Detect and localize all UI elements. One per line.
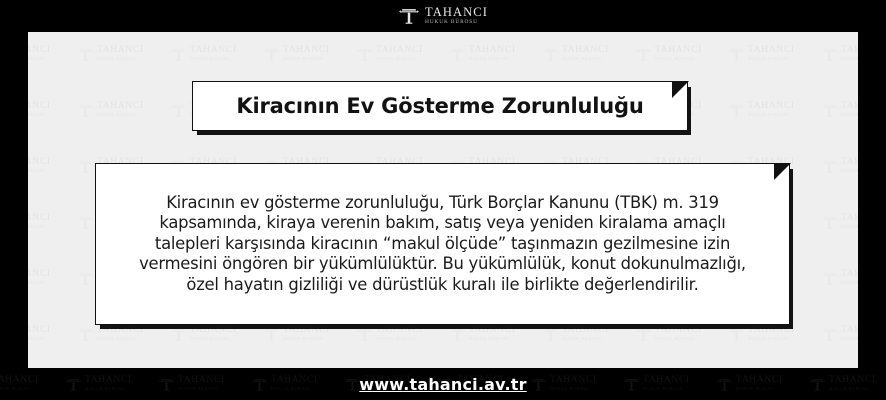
watermark-subtitle: HUKUK BÜROSU (28, 56, 51, 62)
law-column-icon (728, 326, 745, 343)
watermark-name: TAHANCI (748, 326, 795, 336)
watermark-subtitle: HUKUK BÜROSU (841, 168, 858, 174)
law-column-icon (542, 326, 559, 343)
watermark-name: TAHANCI (376, 46, 423, 56)
law-column-icon (170, 102, 187, 119)
watermark-subtitle: HUKUK BÜROSU (97, 56, 144, 62)
watermark-wordmark: TAHANCIHUKUK BÜROSU (829, 376, 876, 392)
watermark-tile: TAHANCIHUKUK BÜROSU (156, 368, 249, 400)
watermark-name: TAHANCI (28, 270, 51, 280)
law-column-icon (623, 376, 640, 393)
watermark-wordmark: TAHANCIHUKUK BÜROSU (841, 102, 858, 118)
law-column-icon (398, 5, 420, 27)
watermark-wordmark: TAHANCIHUKUK BÜROSU (841, 326, 858, 342)
watermark-tile: TAHANCIHUKUK BÜROSU (528, 368, 621, 400)
page-title: Kiracının Ev Gösterme Zorunluluğu (214, 94, 665, 118)
watermark-subtitle: HUKUK BÜROSU (841, 56, 858, 62)
watermark-tile: TAHANCIHUKUK BÜROSU (75, 32, 168, 82)
watermark-name: TAHANCI (97, 326, 144, 336)
law-column-icon (635, 46, 652, 63)
law-column-icon (65, 376, 82, 393)
law-column-icon (716, 376, 733, 393)
watermark-tile: TAHANCIHUKUK BÜROSU (63, 368, 156, 400)
watermark-wordmark: TAHANCIHUKUK BÜROSU (376, 326, 423, 342)
watermark-wordmark: TAHANCIHUKUK BÜROSU (841, 46, 858, 62)
watermark-name: TAHANCI (0, 376, 39, 386)
watermark-tile: TAHANCIHUKUK BÜROSU (633, 32, 726, 82)
watermark-name: TAHANCI (28, 158, 51, 168)
watermark-wordmark: TAHANCIHUKUK BÜROSU (736, 376, 783, 392)
law-column-icon (170, 326, 187, 343)
watermark-name: TAHANCI (190, 326, 237, 336)
law-column-icon (263, 326, 280, 343)
watermark-subtitle: HUKUK BÜROSU (469, 56, 516, 62)
watermark-tile: TAHANCIHUKUK BÜROSU (819, 32, 858, 82)
watermark-subtitle: HUKUK BÜROSU (28, 336, 51, 342)
watermark-wordmark: TAHANCIHUKUK BÜROSU (643, 376, 690, 392)
watermark-wordmark: TAHANCIHUKUK BÜROSU (28, 326, 51, 342)
watermark-subtitle: HUKUK BÜROSU (748, 112, 795, 118)
law-column-icon (821, 102, 838, 119)
watermark-tile: TAHANCIHUKUK BÜROSU (249, 368, 342, 400)
law-column-icon (728, 46, 745, 63)
watermark-wordmark: TAHANCIHUKUK BÜROSU (97, 46, 144, 62)
watermark-subtitle: HUKUK BÜROSU (655, 336, 702, 342)
watermark-wordmark: TAHANCIHUKUK BÜROSU (748, 326, 795, 342)
law-column-icon (356, 46, 373, 63)
watermark-wordmark: TAHANCIHUKUK BÜROSU (97, 102, 144, 118)
brand-wordmark: TAHANCI HUKUK BÜROSU (425, 6, 488, 26)
brand-name: TAHANCI (425, 6, 488, 19)
watermark-tile: TAHANCIHUKUK BÜROSU (168, 32, 261, 82)
watermark-tile: TAHANCIHUKUK BÜROSU (726, 32, 819, 82)
watermark-name: TAHANCI (283, 326, 330, 336)
law-column-icon (77, 46, 94, 63)
watermark-subtitle: HUKUK BÜROSU (178, 386, 225, 392)
watermark-name: TAHANCI (841, 46, 858, 56)
watermark-subtitle: HUKUK BÜROSU (28, 168, 51, 174)
watermark-tile: TAHANCIHUKUK BÜROSU (540, 32, 633, 82)
watermark-subtitle: HUKUK BÜROSU (97, 112, 144, 118)
watermark-name: TAHANCI (550, 376, 597, 386)
watermark-name: TAHANCI (841, 102, 858, 112)
folded-corner-icon (774, 163, 791, 180)
law-column-icon (542, 46, 559, 63)
watermark-name: TAHANCI (841, 270, 858, 280)
watermark-tile: TAHANCIHUKUK BÜROSU (28, 82, 75, 138)
watermark-tile: TAHANCIHUKUK BÜROSU (621, 368, 714, 400)
watermark-tile: TAHANCIHUKUK BÜROSU (819, 250, 858, 306)
law-column-icon (77, 158, 94, 175)
watermark-tile: TAHANCIHUKUK BÜROSU (726, 82, 819, 138)
watermark-subtitle: HUKUK BÜROSU (550, 386, 597, 392)
watermark-name: TAHANCI (28, 46, 51, 56)
law-column-icon (821, 326, 838, 343)
watermark-wordmark: TAHANCIHUKUK BÜROSU (748, 102, 795, 118)
watermark-name: TAHANCI (829, 376, 876, 386)
website-url-link[interactable]: www.tahanci.av.tr (359, 375, 526, 394)
watermark-name: TAHANCI (271, 376, 318, 386)
watermark-name: TAHANCI (841, 158, 858, 168)
watermark-subtitle: HUKUK BÜROSU (283, 56, 330, 62)
watermark-subtitle: HUKUK BÜROSU (469, 336, 516, 342)
watermark-name: TAHANCI (841, 326, 858, 336)
watermark-tile: TAHANCIHUKUK BÜROSU (354, 32, 447, 82)
page-footer: TAHANCIHUKUK BÜROSUTAHANCIHUKUK BÜROSUTA… (0, 368, 886, 400)
watermark-tile: TAHANCIHUKUK BÜROSU (819, 306, 858, 362)
watermark-subtitle: HUKUK BÜROSU (28, 112, 51, 118)
watermark-wordmark: TAHANCIHUKUK BÜROSU (28, 102, 51, 118)
watermark-subtitle: HUKUK BÜROSU (28, 224, 51, 230)
watermark-name: TAHANCI (562, 326, 609, 336)
law-column-icon (530, 376, 547, 393)
law-column-icon (77, 326, 94, 343)
watermark-subtitle: HUKUK BÜROSU (841, 280, 858, 286)
watermark-subtitle: HUKUK BÜROSU (736, 386, 783, 392)
watermark-wordmark: TAHANCIHUKUK BÜROSU (841, 270, 858, 286)
watermark-wordmark: TAHANCIHUKUK BÜROSU (562, 326, 609, 342)
watermark-tile: TAHANCIHUKUK BÜROSU (819, 82, 858, 138)
watermark-subtitle: HUKUK BÜROSU (271, 386, 318, 392)
watermark-wordmark: TAHANCIHUKUK BÜROSU (283, 46, 330, 62)
law-column-icon (635, 326, 652, 343)
watermark-wordmark: TAHANCIHUKUK BÜROSU (28, 158, 51, 174)
watermark-wordmark: TAHANCIHUKUK BÜROSU (655, 326, 702, 342)
watermark-wordmark: TAHANCIHUKUK BÜROSU (283, 326, 330, 342)
law-column-icon (821, 270, 838, 287)
watermark-tile: TAHANCIHUKUK BÜROSU (807, 368, 886, 400)
law-column-icon (251, 376, 268, 393)
watermark-wordmark: TAHANCIHUKUK BÜROSU (841, 214, 858, 230)
watermark-name: TAHANCI (28, 214, 51, 224)
watermark-tile: TAHANCIHUKUK BÜROSU (28, 250, 75, 306)
watermark-subtitle: HUKUK BÜROSU (190, 56, 237, 62)
law-column-icon (728, 102, 745, 119)
watermark-subtitle: HUKUK BÜROSU (841, 224, 858, 230)
watermark-wordmark: TAHANCIHUKUK BÜROSU (469, 46, 516, 62)
watermark-tile: TAHANCIHUKUK BÜROSU (28, 306, 75, 362)
law-column-icon (821, 46, 838, 63)
watermark-tile: TAHANCIHUKUK BÜROSU (819, 194, 858, 250)
law-column-icon (449, 46, 466, 63)
watermark-wordmark: TAHANCIHUKUK BÜROSU (376, 46, 423, 62)
watermark-wordmark: TAHANCIHUKUK BÜROSU (841, 158, 858, 174)
watermark-wordmark: TAHANCIHUKUK BÜROSU (85, 376, 132, 392)
watermark-subtitle: HUKUK BÜROSU (283, 336, 330, 342)
watermark-wordmark: TAHANCIHUKUK BÜROSU (550, 376, 597, 392)
watermark-wordmark: TAHANCIHUKUK BÜROSU (748, 46, 795, 62)
watermark-subtitle: HUKUK BÜROSU (190, 336, 237, 342)
watermark-name: TAHANCI (97, 46, 144, 56)
law-column-icon (77, 214, 94, 231)
content-panel: TAHANCIHUKUK BÜROSUTAHANCIHUKUK BÜROSUTA… (28, 32, 858, 368)
watermark-name: TAHANCI (85, 376, 132, 386)
brand-logo: TAHANCI HUKUK BÜROSU (398, 5, 488, 27)
watermark-subtitle: HUKUK BÜROSU (85, 386, 132, 392)
watermark-name: TAHANCI (736, 376, 783, 386)
law-column-icon (809, 376, 826, 393)
watermark-tile: TAHANCIHUKUK BÜROSU (28, 32, 75, 82)
watermark-subtitle: HUKUK BÜROSU (829, 386, 876, 392)
law-column-icon (449, 326, 466, 343)
watermark-tile: TAHANCIHUKUK BÜROSU (714, 368, 807, 400)
body-paragraph: Kiracının ev gösterme zorunluluğu, Türk … (96, 193, 789, 296)
body-card: Kiracının ev gösterme zorunluluğu, Türk … (95, 163, 790, 325)
folded-corner-icon (672, 81, 689, 98)
watermark-subtitle: HUKUK BÜROSU (841, 336, 858, 342)
law-column-icon (263, 46, 280, 63)
watermark-subtitle: HUKUK BÜROSU (562, 336, 609, 342)
watermark-name: TAHANCI (376, 326, 423, 336)
watermark-name: TAHANCI (841, 214, 858, 224)
watermark-subtitle: HUKUK BÜROSU (376, 56, 423, 62)
watermark-name: TAHANCI (655, 46, 702, 56)
law-column-icon (77, 102, 94, 119)
watermark-subtitle: HUKUK BÜROSU (562, 56, 609, 62)
law-column-icon (821, 158, 838, 175)
watermark-subtitle: HUKUK BÜROSU (643, 386, 690, 392)
watermark-name: TAHANCI (655, 326, 702, 336)
watermark-wordmark: TAHANCIHUKUK BÜROSU (562, 46, 609, 62)
watermark-name: TAHANCI (469, 46, 516, 56)
watermark-name: TAHANCI (283, 46, 330, 56)
watermark-name: TAHANCI (748, 46, 795, 56)
watermark-tile: TAHANCIHUKUK BÜROSU (28, 194, 75, 250)
watermark-wordmark: TAHANCIHUKUK BÜROSU (271, 376, 318, 392)
watermark-wordmark: TAHANCIHUKUK BÜROSU (190, 46, 237, 62)
watermark-tile: TAHANCIHUKUK BÜROSU (0, 368, 63, 400)
watermark-name: TAHANCI (178, 376, 225, 386)
watermark-subtitle: HUKUK BÜROSU (748, 336, 795, 342)
law-column-icon (821, 214, 838, 231)
watermark-tile: TAHANCIHUKUK BÜROSU (261, 32, 354, 82)
watermark-subtitle: HUKUK BÜROSU (655, 56, 702, 62)
watermark-name: TAHANCI (562, 46, 609, 56)
watermark-wordmark: TAHANCIHUKUK BÜROSU (28, 214, 51, 230)
watermark-tile: TAHANCIHUKUK BÜROSU (28, 138, 75, 194)
watermark-tile: TAHANCIHUKUK BÜROSU (447, 32, 540, 82)
watermark-subtitle: HUKUK BÜROSU (376, 336, 423, 342)
page-header: TAHANCI HUKUK BÜROSU (0, 0, 886, 32)
watermark-name: TAHANCI (28, 102, 51, 112)
watermark-name: TAHANCI (748, 102, 795, 112)
law-column-icon (158, 376, 175, 393)
brand-subtitle: HUKUK BÜROSU (425, 19, 488, 25)
watermark-subtitle: HUKUK BÜROSU (0, 386, 39, 392)
watermark-wordmark: TAHANCIHUKUK BÜROSU (469, 326, 516, 342)
law-column-icon (170, 46, 187, 63)
watermark-name: TAHANCI (643, 376, 690, 386)
watermark-wordmark: TAHANCIHUKUK BÜROSU (97, 326, 144, 342)
law-column-icon (356, 326, 373, 343)
watermark-subtitle: HUKUK BÜROSU (28, 280, 51, 286)
watermark-name: TAHANCI (469, 326, 516, 336)
watermark-tile: TAHANCIHUKUK BÜROSU (819, 138, 858, 194)
watermark-subtitle: HUKUK BÜROSU (841, 112, 858, 118)
watermark-subtitle: HUKUK BÜROSU (97, 336, 144, 342)
watermark-wordmark: TAHANCIHUKUK BÜROSU (0, 376, 39, 392)
watermark-wordmark: TAHANCIHUKUK BÜROSU (190, 326, 237, 342)
watermark-wordmark: TAHANCIHUKUK BÜROSU (655, 46, 702, 62)
watermark-name: TAHANCI (190, 46, 237, 56)
watermark-name: TAHANCI (28, 326, 51, 336)
watermark-tile: TAHANCIHUKUK BÜROSU (75, 82, 168, 138)
law-column-icon (77, 270, 94, 287)
title-card: Kiracının Ev Gösterme Zorunluluğu (192, 81, 688, 131)
watermark-wordmark: TAHANCIHUKUK BÜROSU (178, 376, 225, 392)
watermark-name: TAHANCI (97, 102, 144, 112)
watermark-wordmark: TAHANCIHUKUK BÜROSU (28, 270, 51, 286)
watermark-wordmark: TAHANCIHUKUK BÜROSU (28, 46, 51, 62)
watermark-subtitle: HUKUK BÜROSU (748, 56, 795, 62)
